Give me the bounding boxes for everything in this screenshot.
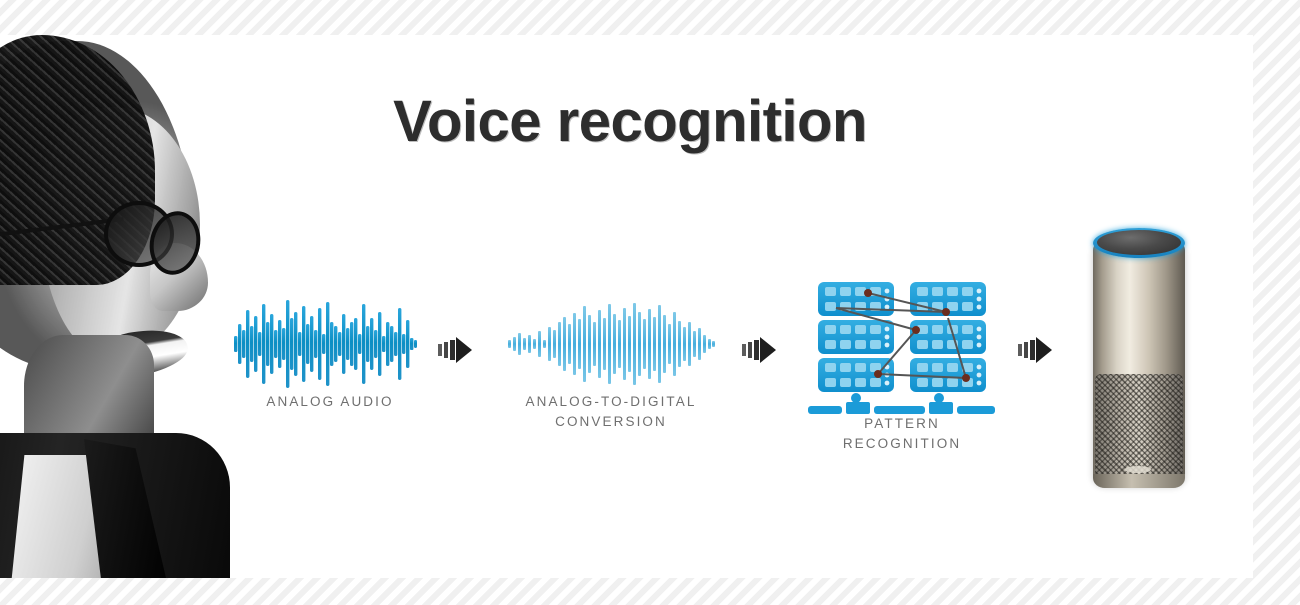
- stage-label-analog-audio: ANALOG AUDIO: [232, 392, 428, 412]
- page-title: Voice recognition: [300, 88, 960, 155]
- next-step-arrow-icon-1: [438, 335, 482, 365]
- stage-label-analog-to-digital: ANALOG-TO-DIGITAL CONVERSION: [506, 392, 716, 432]
- slide-canvas: Voice recognition: [0, 0, 1300, 605]
- speaker-grille: [1095, 374, 1183, 478]
- digital-waveform-icon: [506, 296, 716, 392]
- speaker-status-led: [1125, 466, 1151, 473]
- stage-analog-to-digital: ANALOG-TO-DIGITAL CONVERSION: [506, 296, 716, 432]
- stage-pattern-recognition: PATTERN RECOGNITION: [806, 274, 998, 454]
- speaker-top-face: [1097, 230, 1181, 255]
- stage-analog-audio: ANALOG AUDIO: [232, 296, 428, 412]
- speaker-base-band: [1093, 474, 1185, 488]
- next-step-arrow-icon-3: [1018, 335, 1062, 365]
- person-photo: [0, 35, 235, 578]
- stage-label-pattern-recognition: PATTERN RECOGNITION: [806, 414, 998, 454]
- analog-waveform-icon: [232, 296, 428, 392]
- server-network-icon: [806, 274, 998, 414]
- smart-speaker-icon: [1085, 222, 1193, 490]
- next-step-arrow-icon-2: [742, 335, 786, 365]
